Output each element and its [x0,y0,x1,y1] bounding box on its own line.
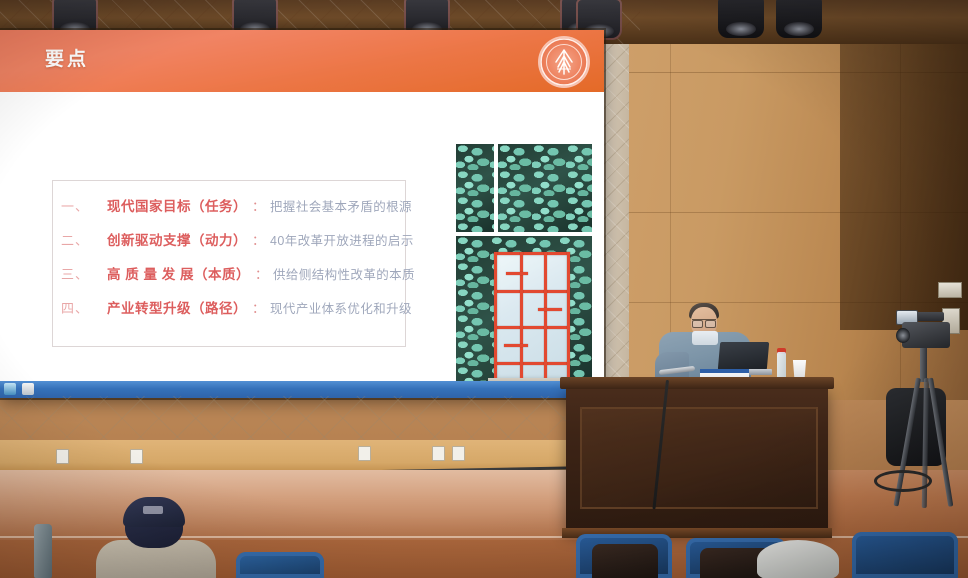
ivy-foliage [498,144,592,232]
list-item: 三、高 质 量 发 展（本质）：供给侧结构性改革的本质 [61,263,401,289]
lattice-bar [494,362,570,365]
lattice-bar [494,252,570,255]
bullet-value: 现代产业体系优化和升级 [270,298,412,317]
key-points-list: 一、现代国家目标（任务）：把握社会基本矛盾的根源 二、创新驱动支撑（动力）：40… [52,180,406,347]
lecture-hall-photo: 要点 一、现代国家目标（任务）：把握社会基本矛盾的根源 二、创新驱动支撑（动力）… [0,0,968,578]
coiled-cable [874,470,932,492]
list-item: 一、现代国家目标（任务）：把握社会基本矛盾的根源 [61,195,401,221]
wall-plate [938,282,962,298]
lattice-bar [494,252,497,380]
lattice-bar [506,272,528,275]
eyeglasses-icon [692,319,716,326]
bullet-value: 40年改革开放进程的启示 [270,230,414,249]
wall-recess-shadow [840,0,968,330]
laptop-screen [718,342,769,370]
ivy-covered-red-lattice-window-photo [452,140,600,398]
wall-outlet [432,446,445,461]
bullet-number: 一、 [61,196,107,215]
list-item: 二、创新驱动支撑（动力）：40年改革开放进程的启示 [61,229,401,255]
speaker-collar [692,331,718,345]
bullet-number: 三、 [61,264,107,283]
floor-reflection [0,470,612,540]
audience-member-head [757,540,839,578]
list-item: 四、产业转型升级（路径）：现代产业体系优化和升级 [61,297,401,323]
bullet-key: 高 质 量 发 展（本质） [107,263,250,283]
acoustic-panel-wall [0,396,612,444]
auditorium-seat [852,532,958,578]
bullet-colon: ： [250,264,273,283]
ivy-foliage [456,144,494,232]
camera-lens-icon [896,328,910,343]
bullet-number: 二、 [61,230,107,249]
wall-outlet [452,446,465,461]
projection-screen: 要点 一、现代国家目标（任务）：把握社会基本矛盾的根源 二、创新驱动支撑（动力）… [0,30,604,398]
wall-outlet [358,446,371,461]
camera-handle [914,312,944,321]
bullet-key: 产业转型升级（路径） [107,297,247,317]
peking-university-seal-icon [538,36,590,88]
taskbar-app-icon[interactable] [4,383,16,395]
lattice-bar [544,252,547,380]
auditorium-seat-back [592,544,658,578]
lattice-bar [494,290,570,293]
bullet-colon: ： [247,196,270,215]
tripod-column [920,348,927,382]
slide-header-bar: 要点 [0,30,604,92]
textured-pilaster [603,22,629,397]
bullet-colon: ： [247,230,270,249]
wall-outlet [130,449,143,464]
slide-title: 要点 [45,44,89,71]
thermos-flask [34,524,52,578]
bullet-value: 供给侧结构性改革的本质 [273,264,415,283]
bullet-key: 现代国家目标（任务） [107,195,247,215]
lattice-bar [567,252,570,380]
speaker-podium-table [566,385,828,530]
bullet-key: 创新驱动支撑（动力） [107,229,247,249]
bullet-number: 四、 [61,298,107,317]
lattice-bar [504,344,528,347]
lattice-bar [538,308,562,311]
podium-top-edge [560,377,834,389]
bullet-colon: ： [247,298,270,317]
taskbar-app-icon[interactable] [22,383,34,395]
lattice-bar [494,326,570,329]
bullet-value: 把握社会基本矛盾的根源 [270,196,412,215]
podium-front-panel [580,407,818,509]
wall-outlet [56,449,69,464]
auditorium-seat [236,552,324,578]
stage-light-icon [776,0,822,38]
stage-light-icon [718,0,764,38]
